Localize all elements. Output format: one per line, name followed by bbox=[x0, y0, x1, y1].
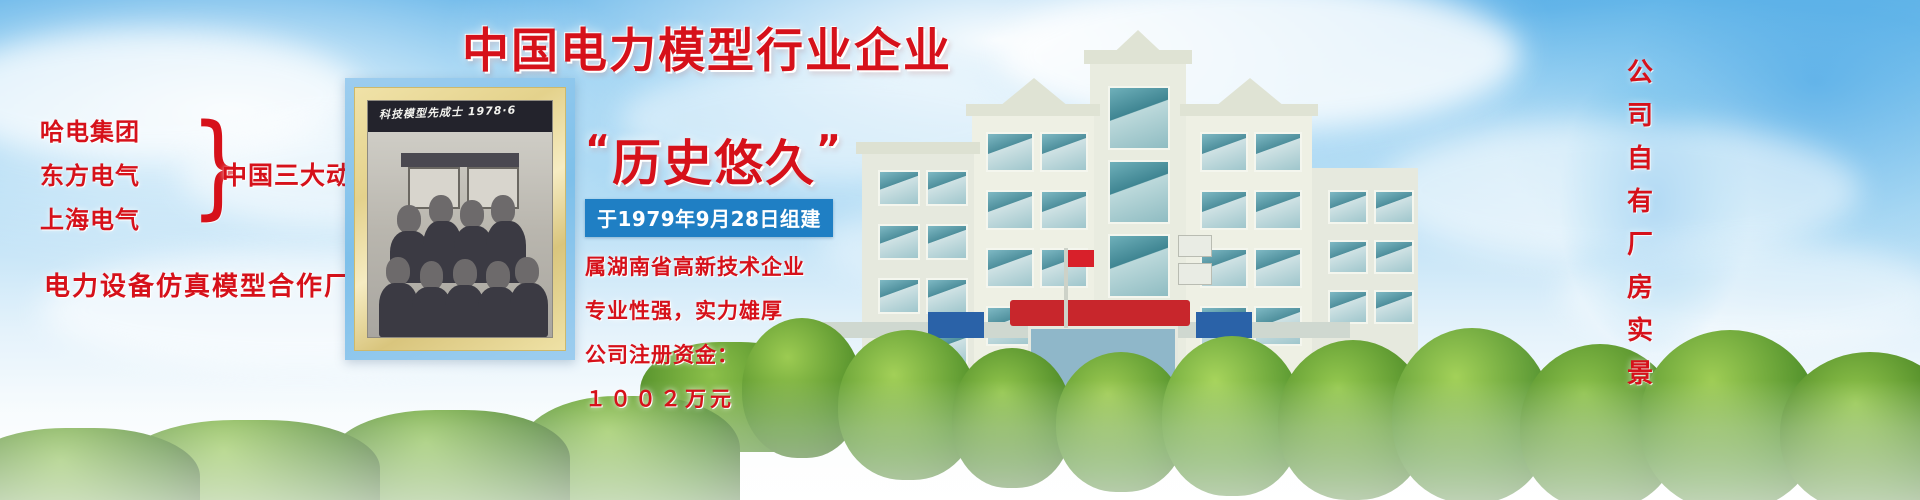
promo-banner: 中国电力模型行业企业 哈电集团 东方电气 上海电气 } 中国三大动力 电力设备仿… bbox=[0, 0, 1920, 500]
brand-list: 哈电集团 东方电气 上海电气 bbox=[40, 110, 190, 242]
historic-group-photo: 科技模型先成士 1978·6 bbox=[367, 100, 553, 338]
photo-banner-strip: 科技模型先成士 1978·6 bbox=[368, 101, 552, 132]
vertical-char-0: 公 bbox=[1620, 52, 1660, 95]
ground-haze bbox=[0, 380, 1920, 500]
vertical-char-4: 厂 bbox=[1620, 224, 1660, 267]
brand-item-0: 哈电集团 bbox=[40, 110, 190, 154]
brand-item-1: 东方电气 bbox=[40, 154, 190, 198]
vertical-char-5: 房 bbox=[1620, 267, 1660, 310]
brand-item-2: 上海电气 bbox=[40, 198, 190, 242]
vertical-char-1: 司 bbox=[1620, 95, 1660, 138]
left-bottom-line: 电力设备仿真模型合作厂家 bbox=[44, 266, 380, 303]
vertical-char-2: 自 bbox=[1620, 138, 1660, 181]
vertical-char-7: 景 bbox=[1620, 353, 1660, 396]
quote-open-mark: “ bbox=[585, 127, 612, 171]
quote-text: 历史悠久 bbox=[612, 135, 816, 192]
quote-close-mark: ” bbox=[816, 127, 843, 171]
banner-title: 中国电力模型行业企业 bbox=[462, 12, 952, 81]
vertical-char-3: 有 bbox=[1620, 181, 1660, 224]
photo-gold-molding: 科技模型先成士 1978·6 bbox=[354, 87, 566, 351]
center-text-block: “历史悠久” 于1979年9月28日组建 属湖南省高新技术企业 专业性强，实力雄… bbox=[585, 120, 915, 413]
founding-date-badge: 于1979年9月28日组建 bbox=[585, 199, 833, 237]
vertical-char-6: 实 bbox=[1620, 310, 1660, 353]
historic-photo-frame: 科技模型先成士 1978·6 bbox=[345, 78, 575, 360]
headline-quote: “历史悠久” bbox=[585, 120, 915, 193]
center-line-2: 公司注册资金： bbox=[585, 339, 915, 369]
photo-banner-text: 科技模型先成士 1978·6 bbox=[379, 102, 517, 123]
center-line-1: 专业性强，实力雄厚 bbox=[585, 295, 915, 325]
vertical-caption: 公 司 自 有 厂 房 实 景 bbox=[1620, 52, 1660, 396]
registered-capital-amount: １００２万元 bbox=[585, 383, 915, 413]
center-line-0: 属湖南省高新技术企业 bbox=[585, 251, 915, 281]
